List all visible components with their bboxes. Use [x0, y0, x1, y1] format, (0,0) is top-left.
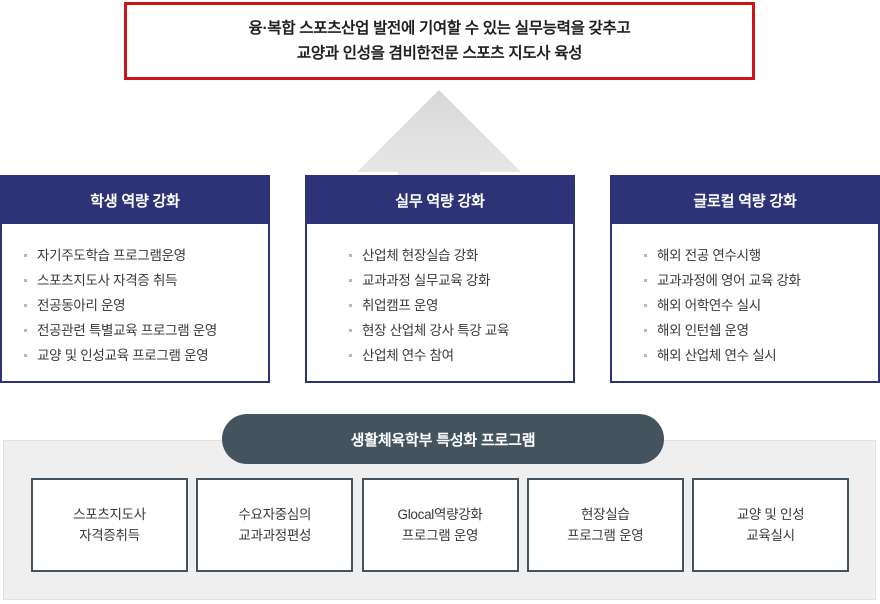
pillar-title: 실무 역량 강화 [307, 177, 573, 224]
list-item: 해외 어학연수 실시 [644, 296, 878, 315]
list-item: 전공관련 특별교육 프로그램 운영 [24, 321, 268, 340]
pillar-card-practical-capability: 실무 역량 강화 산업체 현장실습 강화 교과과정 실무교육 강화 취업캠프 운… [305, 175, 575, 383]
bullet-icon [24, 354, 27, 357]
bullet-icon [24, 254, 27, 257]
program-box-demand-oriented-curriculum: 수요자중심의 교과과정편성 [196, 478, 353, 572]
pillar-card-glocal-capability: 글로컬 역량 강화 해외 전공 연수시행 교과과정에 영어 교육 강화 해외 어… [610, 175, 880, 383]
up-arrow-icon [357, 90, 521, 180]
bullet-icon [349, 279, 352, 282]
pillar-item-list: 산업체 현장실습 강화 교과과정 실무교육 강화 취업캠프 운영 현장 산업체 … [307, 224, 573, 381]
goal-banner: 융·복합 스포츠산업 발전에 기여할 수 있는 실무능력을 갖추고 교양과 인성… [124, 2, 755, 80]
pillar-item-list: 해외 전공 연수시행 교과과정에 영어 교육 강화 해외 어학연수 실시 해외 … [612, 224, 878, 381]
bullet-icon [24, 304, 27, 307]
list-item: 스포츠지도사 자격증 취득 [24, 271, 268, 290]
list-item: 해외 전공 연수시행 [644, 246, 878, 265]
list-item: 교과과정에 영어 교육 강화 [644, 271, 878, 290]
pillar-title: 글로컬 역량 강화 [612, 177, 878, 224]
bullet-icon [644, 304, 647, 307]
program-box-field-practice-program: 현장실습 프로그램 운영 [527, 478, 684, 572]
goal-banner-line-2: 교양과 인성을 겸비한전문 스포츠 지도사 육성 [297, 41, 582, 66]
program-box-glocal-capability-program: Glocal역량강화 프로그램 운영 [362, 478, 519, 572]
list-item: 취업캠프 운영 [349, 296, 573, 315]
program-box-sports-instructor-license: 스포츠지도사 자격증취득 [31, 478, 188, 572]
list-item: 해외 인턴쉡 운영 [644, 321, 878, 340]
bullet-icon [644, 354, 647, 357]
list-item: 교양 및 인성교육 프로그램 운영 [24, 346, 268, 365]
diagram-canvas: 융·복합 스포츠산업 발전에 기여할 수 있는 실무능력을 갖추고 교양과 인성… [0, 0, 880, 604]
list-item: 산업체 현장실습 강화 [349, 246, 573, 265]
list-item: 자기주도학습 프로그램운영 [24, 246, 268, 265]
list-item: 산업체 연수 참여 [349, 346, 573, 365]
bullet-icon [644, 329, 647, 332]
list-item: 해외 산업체 연수 실시 [644, 346, 878, 365]
program-pill-badge: 생활체육학부 특성화 프로그램 [222, 414, 664, 464]
list-item: 교과과정 실무교육 강화 [349, 271, 573, 290]
bullet-icon [349, 254, 352, 257]
bullet-icon [349, 329, 352, 332]
bullet-icon [644, 279, 647, 282]
program-box-liberal-arts-character-education: 교양 및 인성 교육실시 [692, 478, 849, 572]
pillar-item-list: 자기주도학습 프로그램운영 스포츠지도사 자격증 취득 전공동아리 운영 전공관… [2, 224, 268, 381]
bullet-icon [24, 279, 27, 282]
bullet-icon [349, 304, 352, 307]
pillar-title: 학생 역량 강화 [2, 177, 268, 224]
list-item: 전공동아리 운영 [24, 296, 268, 315]
bullet-icon [644, 254, 647, 257]
bullet-icon [24, 329, 27, 332]
list-item: 현장 산업체 강사 특강 교육 [349, 321, 573, 340]
pillar-card-student-capability: 학생 역량 강화 자기주도학습 프로그램운영 스포츠지도사 자격증 취득 전공동… [0, 175, 270, 383]
goal-banner-line-1: 융·복합 스포츠산업 발전에 기여할 수 있는 실무능력을 갖추고 [249, 16, 631, 41]
program-box-list: 스포츠지도사 자격증취득 수요자중심의 교과과정편성 Glocal역량강화 프로… [31, 478, 849, 572]
bullet-icon [349, 354, 352, 357]
